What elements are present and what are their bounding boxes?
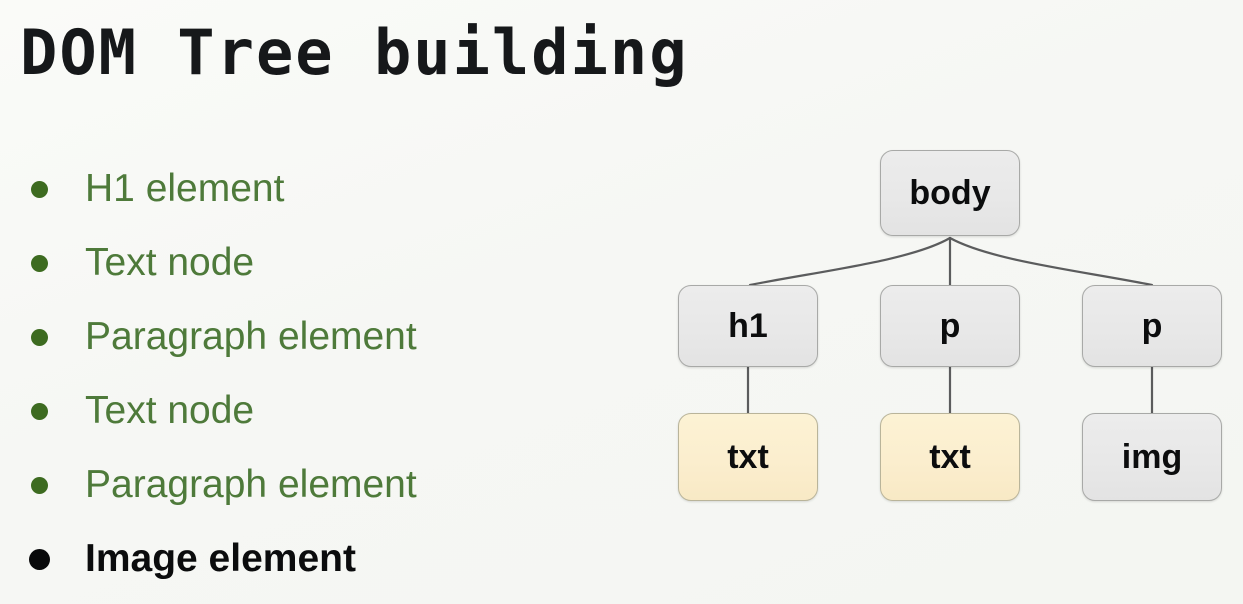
tree-node-label: p [1142,309,1163,343]
dom-tree-diagram: body h1 p p txt txt img [640,130,1243,530]
tree-node-txt-second[interactable]: txt [880,413,1020,501]
page-title: DOM Tree building [20,18,689,88]
bullet-dot-icon [31,181,48,198]
bullet-dot-icon [31,403,48,420]
bullet-dot-icon [31,477,48,494]
list-item: Paragraph element [24,300,624,374]
tree-node-txt-first[interactable]: txt [678,413,818,501]
edge-body-h1 [750,238,950,285]
list-item-label: Image element [85,537,356,581]
edge-body-p2 [950,238,1152,285]
tree-node-label: img [1122,440,1182,474]
tree-node-p-second[interactable]: p [1082,285,1222,367]
bullet-dot-icon [31,255,48,272]
tree-node-label: body [909,176,990,210]
tree-node-label: txt [929,440,971,474]
tree-node-label: txt [727,440,769,474]
bullet-dot-icon [29,549,50,570]
list-item-label: Text node [85,389,254,433]
list-item: Paragraph element [24,448,624,522]
bullet-dot-icon [31,329,48,346]
tree-node-img[interactable]: img [1082,413,1222,501]
bullet-list: H1 element Text node Paragraph element T… [24,152,624,596]
tree-node-body[interactable]: body [880,150,1020,236]
slide-canvas: DOM Tree building H1 element Text node P… [0,0,1243,604]
list-item: Image element [24,522,624,596]
tree-node-label: h1 [728,309,768,343]
list-item-label: Paragraph element [85,463,417,507]
tree-node-h1[interactable]: h1 [678,285,818,367]
tree-node-label: p [940,309,961,343]
list-item-label: H1 element [85,167,284,211]
list-item: Text node [24,226,624,300]
list-item-label: Paragraph element [85,315,417,359]
tree-node-p-first[interactable]: p [880,285,1020,367]
list-item: Text node [24,374,624,448]
list-item-label: Text node [85,241,254,285]
list-item: H1 element [24,152,624,226]
